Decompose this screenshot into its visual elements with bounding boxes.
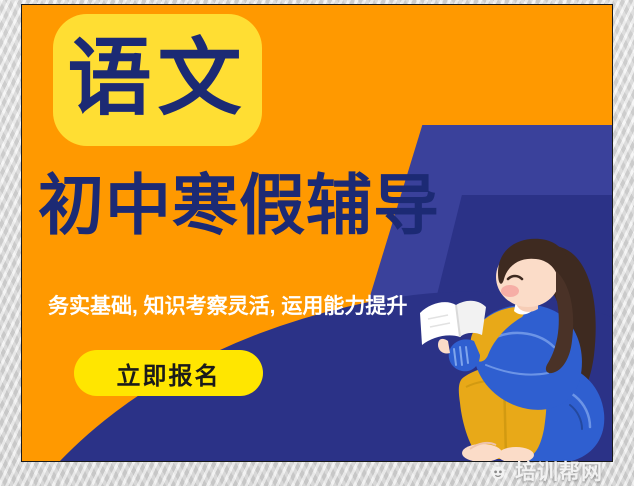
subject-badge-label: 语文 (67, 36, 247, 120)
book-right-page (456, 301, 486, 337)
book-left-page (420, 302, 460, 345)
signup-button-label: 立即报名 (117, 356, 221, 391)
promo-banner: 语文 初中寒假辅导 务实基础, 知识考察灵活, 运用能力提升 (21, 4, 613, 462)
girl-reading-illustration (420, 237, 612, 461)
page-background: 语文 初中寒假辅导 务实基础, 知识考察灵活, 运用能力提升 (0, 0, 634, 486)
cheek-blush (501, 285, 519, 297)
headline-text: 初中寒假辅导 (38, 172, 440, 238)
hand (438, 339, 450, 354)
subject-badge: 语文 (53, 14, 262, 146)
watermark: 培训帮网 (487, 456, 603, 486)
subtitle-text: 务实基础, 知识考察灵活, 运用能力提升 (48, 290, 407, 320)
banner-canvas: 语文 初中寒假辅导 务实基础, 知识考察灵活, 运用能力提升 (22, 5, 612, 461)
signup-button[interactable]: 立即报名 (74, 350, 263, 396)
sun-face-icon (487, 460, 509, 482)
watermark-label: 培训帮网 (515, 456, 603, 486)
arm-sleeve (449, 339, 480, 371)
